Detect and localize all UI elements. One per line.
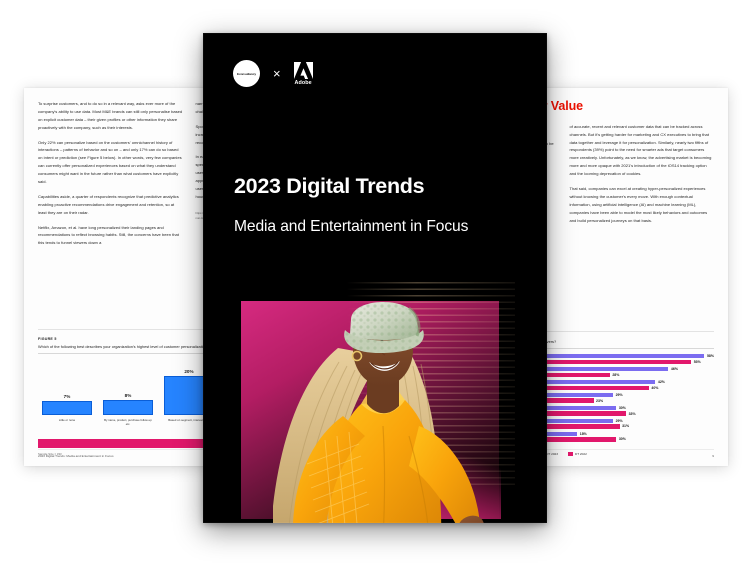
bar-series-line: 58% [519,354,714,358]
footer-page-number: 9 [712,454,714,458]
bar-value-label: 53% [694,360,701,364]
adobe-wordmark: Adobe [294,80,311,86]
bar-series-line: 30% [519,406,714,410]
bar-group: 8%By name, product, purchase follow-up e… [103,359,153,433]
paragraph: That said, companies can excel at creati… [570,185,715,224]
bar-value-label: 30% [619,406,626,410]
bar-category-label: Little or none [59,418,75,433]
bar-series-line: 30% [519,437,714,441]
footer-title: 2023 Digital Trends: Media and Entertain… [38,454,114,458]
bar-track: 18%30% [519,432,714,442]
bar-value-label: 29% [616,419,623,423]
paragraph: Netflix, Amazon, et al. have long person… [38,224,183,248]
multiply-x-icon: × [273,67,281,80]
bar-series-line: 42% [519,380,714,384]
bar-track: 42%40% [519,380,714,390]
econsultancy-logo-label: Econsultancy [237,72,256,76]
bar-value-label: 31% [622,424,629,428]
bar-value-label: 29% [616,393,623,397]
report-cover[interactable]: Econsultancy × Adobe 2023 Digital Trends… [203,33,547,523]
bar-series-line: 18% [519,432,714,436]
bar-series-line: 29% [519,419,714,423]
bar-value-label: 18% [580,432,587,436]
bar-value-label: 33% [629,412,636,416]
bar-value-label: 30% [619,437,626,441]
cover-portrait [233,276,515,523]
adobe-a-icon [294,62,313,79]
bar-series-line: 31% [519,424,714,428]
bar [42,401,92,415]
bar-series-line: 46% [519,367,714,371]
paragraph: To surprise customers, and to do so in a… [38,100,183,132]
screenshot-stage: To surprise customers, and to do so in a… [0,0,750,563]
bar-value-label: 58% [707,354,714,358]
bar-series-line: 53% [519,360,714,364]
bar-value-label: 28% [612,373,619,377]
bar-track: 30%33% [519,406,714,416]
paragraph: Only 22% can personalize based on the cu… [38,139,183,186]
bar-track: 58%53% [519,354,714,364]
bar-value-label: 23% [596,399,603,403]
bar-series-line: 29% [519,393,714,397]
bar-category-label: By name, product, purchase follow-up etc… [103,418,153,433]
bar-track: 46%28% [519,367,714,377]
bar-value-label: 40% [651,386,658,390]
bar-track: 29%23% [519,393,714,403]
left-page-column-one: To surprise customers, and to do so in a… [38,100,183,254]
bar-group: 7%Little or none [42,359,92,433]
bar-track: 29%31% [519,419,714,429]
bar-series-line: 28% [519,373,714,377]
econsultancy-logo: Econsultancy [233,60,260,87]
adobe-logo: Adobe [294,62,313,86]
bar-value-label: 42% [658,380,665,384]
cover-logo-lockup: Econsultancy × Adobe [233,60,313,87]
bar-series-line: 33% [519,411,714,415]
cover-subtitle: Media and Entertainment in Focus [234,218,468,237]
paragraph: Capabilities aside, a quarter of respond… [38,193,183,217]
cover-artwork [233,276,515,523]
cover-title: 2023 Digital Trends [234,175,424,199]
bar-series-line: 40% [519,386,714,390]
right-page-column-two: of accurate, recent and relevant custome… [570,123,715,232]
bar-value-label: 8% [125,393,132,398]
bar-value-label: 46% [671,367,678,371]
bar-value-label: 7% [64,394,71,399]
bar-value-label: 20% [184,369,193,374]
bar [103,400,153,415]
bar-series-line: 23% [519,398,714,402]
paragraph: of accurate, recent and relevant custome… [570,123,715,178]
